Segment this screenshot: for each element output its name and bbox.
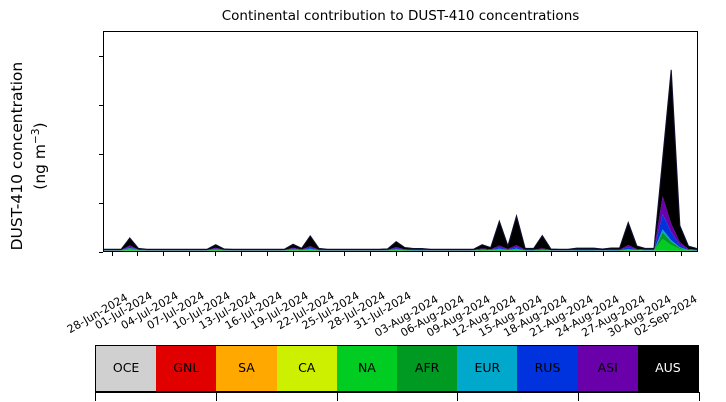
x-axis-tick-mark — [215, 252, 216, 256]
page-title: Continental contribution to DUST-410 con… — [103, 8, 698, 24]
plot-area[interactable] — [103, 31, 698, 252]
x-axis-tick-mark — [681, 252, 682, 256]
legend-item-aus[interactable]: AUS — [638, 346, 698, 391]
x-axis-tick-mark — [112, 252, 113, 256]
x-axis-tick-mark — [241, 252, 242, 256]
area-band-aus — [104, 70, 697, 250]
y-axis-label: DUST-410 concentration (ng m−3) — [8, 31, 50, 281]
x-axis-tick-mark — [422, 252, 423, 256]
colorbar-tick-marks — [95, 392, 699, 402]
y-axis-label-line2: (ng m−3) — [27, 31, 50, 281]
x-axis-tick-mark — [370, 252, 371, 256]
area-band-asi — [104, 196, 697, 250]
legend-item-oce[interactable]: OCE — [96, 346, 156, 391]
legend-item-na[interactable]: NA — [337, 346, 397, 391]
legend-item-afr[interactable]: AFR — [397, 346, 457, 391]
total-concentration-line — [104, 70, 697, 249]
x-axis-tick-mark — [577, 252, 578, 256]
x-axis-tick-mark — [319, 252, 320, 256]
x-axis-tick-mark — [267, 252, 268, 256]
x-axis-tick-mark — [603, 252, 604, 256]
colorbar-tick — [699, 392, 700, 401]
x-axis-tick-mark — [474, 252, 475, 256]
x-axis-tick-mark — [500, 252, 501, 256]
figure-canvas: Continental contribution to DUST-410 con… — [0, 0, 726, 402]
x-axis-tick-mark — [448, 252, 449, 256]
colorbar-bottom-frame — [95, 392, 699, 393]
x-axis-tick-mark — [551, 252, 552, 256]
colorbar-tick — [337, 392, 338, 401]
y-axis-tick-mark — [99, 252, 103, 253]
legend-item-gnl[interactable]: GNL — [156, 346, 216, 391]
x-axis-tick-mark — [189, 252, 190, 256]
legend-item-ca[interactable]: CA — [277, 346, 337, 391]
x-axis-tick-mark — [629, 252, 630, 256]
x-axis-tick-mark — [293, 252, 294, 256]
legend-item-eur[interactable]: EUR — [457, 346, 517, 391]
stacked-area-series — [104, 32, 697, 251]
y-axis-unit-prefix: (ng m — [31, 144, 49, 190]
colorbar-tick — [457, 392, 458, 401]
x-axis-tick-mark — [137, 252, 138, 256]
legend-item-sa[interactable]: SA — [216, 346, 276, 391]
y-axis-unit-suffix: ) — [31, 122, 49, 128]
y-axis-unit-exponent: −3 — [30, 129, 42, 144]
x-axis-tick-mark — [655, 252, 656, 256]
legend-item-rus[interactable]: RUS — [517, 346, 577, 391]
x-axis-tick-mark — [344, 252, 345, 256]
x-axis-tick-mark — [526, 252, 527, 256]
colorbar-tick — [216, 392, 217, 401]
x-axis-tick-mark — [163, 252, 164, 256]
y-axis-label-line1: DUST-410 concentration — [8, 31, 27, 281]
colorbar-tick — [95, 392, 96, 401]
x-axis-tick-mark — [396, 252, 397, 256]
continent-legend-colorbar[interactable]: OCEGNLSACANAAFREURRUSASIAUS — [95, 345, 699, 392]
legend-item-asi[interactable]: ASI — [578, 346, 638, 391]
colorbar-tick — [578, 392, 579, 401]
